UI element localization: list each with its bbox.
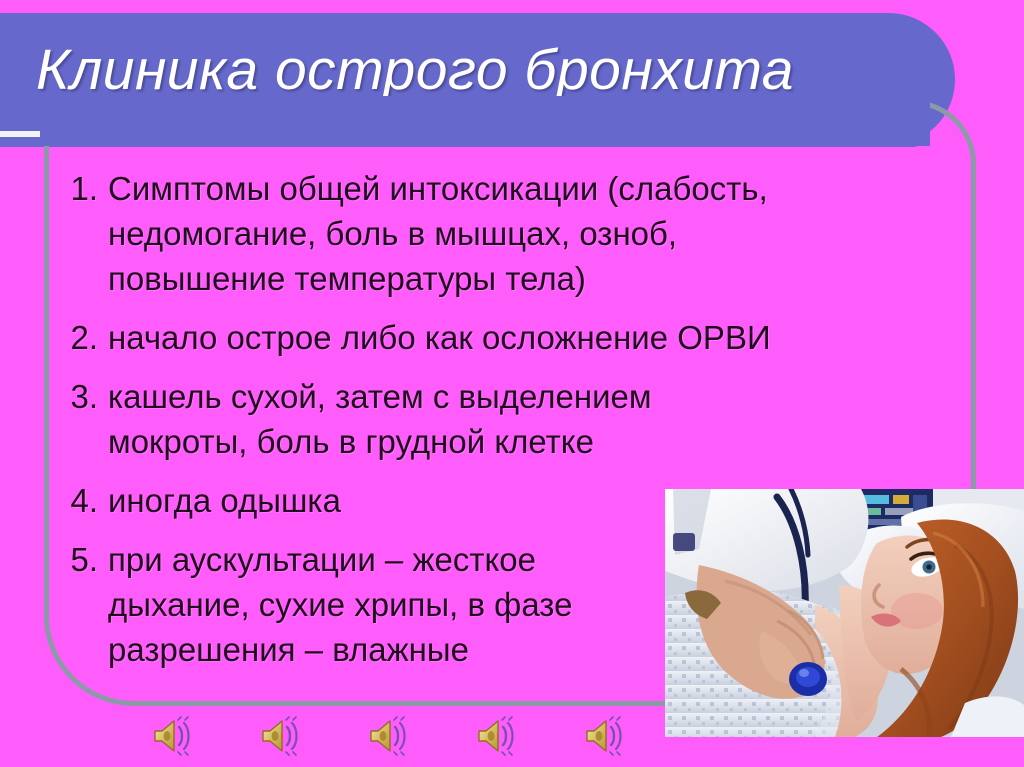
list-item-number: 5. [52,537,108,582]
sound-icon-3[interactable] [368,716,410,756]
frame-top-mask [40,96,930,146]
list-item: 2. начало острое либо как осложнение ОРВ… [52,315,957,360]
sound-icon-5[interactable] [584,716,626,756]
slide: Клиника острого бронхита 1. Симптомы общ… [0,0,1024,767]
sound-icon-1[interactable] [152,716,194,756]
list-item-label: Симптомы общей интоксикации (слабость, н… [108,166,957,301]
list-item: 1. Симптомы общей интоксикации (слабость… [52,166,957,301]
sound-icon-2[interactable] [260,716,302,756]
list-item-number: 4. [52,478,108,523]
list-item-number: 2. [52,315,108,360]
list-item-label: кашель сухой, затем с выделением мокроты… [108,374,957,464]
sound-icon-row [152,714,652,758]
list-item-label: начало острое либо как осложнение ОРВИ [108,315,957,360]
sound-icon-4[interactable] [476,716,518,756]
doctor-auscultating-patient-photo [665,489,1024,737]
list-item-number: 3. [52,374,108,419]
list-item-number: 1. [52,166,108,211]
list-item: 3. кашель сухой, затем с выделением мокр… [52,374,957,464]
